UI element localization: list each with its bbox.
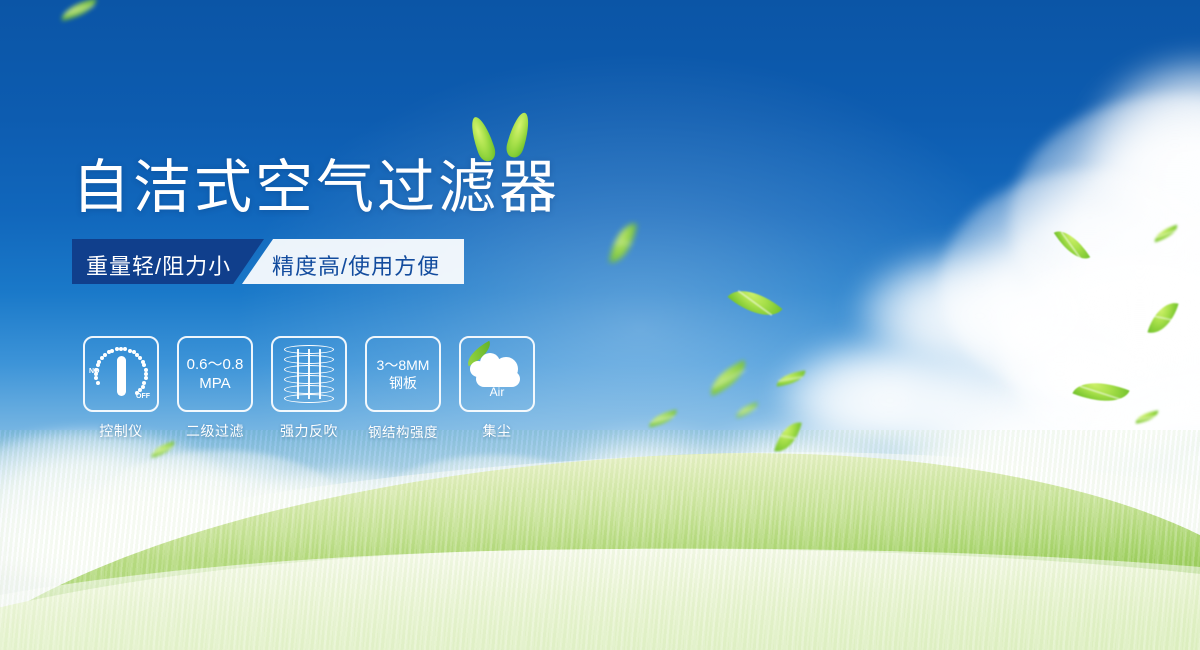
feature-label: 集尘 bbox=[483, 421, 512, 441]
gauge-tick bbox=[103, 353, 107, 357]
feature-item-filter[interactable]: 0.6～0.8 MPA 二级过滤 bbox=[176, 336, 254, 441]
feature-label: 二级过滤 bbox=[186, 421, 244, 441]
banner-stage: 自洁式空气过滤器 重量轻/阻力小 精度高/使用方便 NO OFF 控制仪 0.6… bbox=[0, 0, 1200, 650]
gauge-tick bbox=[96, 363, 100, 367]
coil-blowback-icon bbox=[284, 345, 334, 403]
pressure-line2: MPA bbox=[187, 374, 244, 393]
gauge-tick bbox=[128, 349, 132, 353]
gauge-tick bbox=[110, 349, 114, 353]
subtitle-bar: 重量轻/阻力小 精度高/使用方便 bbox=[72, 239, 464, 284]
feature-item-dust[interactable]: Air 集尘 bbox=[458, 336, 536, 441]
gauge-tick bbox=[142, 381, 146, 385]
feature-list: NO OFF 控制仪 0.6～0.8 MPA 二级过滤 bbox=[82, 336, 536, 441]
pressure-text-icon: 0.6～0.8 MPA bbox=[187, 355, 244, 393]
gauge-tick bbox=[123, 347, 127, 351]
feature-label: 钢结构强度 bbox=[368, 421, 438, 441]
page-title: 自洁式空气过滤器 bbox=[72, 140, 560, 224]
gauge-tick bbox=[142, 363, 146, 367]
gauge-tick bbox=[94, 372, 98, 376]
subtitle-left-text: 重量轻/阻力小 bbox=[86, 249, 231, 281]
steel-line2: 钢板 bbox=[377, 374, 430, 392]
air-cloud-icon: Air bbox=[468, 349, 526, 399]
feature-item-steel[interactable]: 3～8MM 钢板 钢结构强度 bbox=[364, 336, 442, 441]
gauge-tick bbox=[94, 376, 98, 380]
feature-box: Air bbox=[459, 336, 535, 412]
air-label: Air bbox=[468, 385, 526, 399]
gauge-icon: NO OFF bbox=[90, 343, 152, 405]
feature-box bbox=[271, 336, 347, 412]
feature-item-control[interactable]: NO OFF 控制仪 bbox=[82, 336, 160, 441]
gauge-tick bbox=[96, 381, 100, 385]
feature-item-blowback[interactable]: 强力反吹 bbox=[270, 336, 348, 441]
feature-box: 0.6～0.8 MPA bbox=[177, 336, 253, 412]
feature-box: 3～8MM 钢板 bbox=[365, 336, 441, 412]
grass-field bbox=[0, 430, 1200, 650]
pressure-line1: 0.6～0.8 bbox=[187, 355, 244, 374]
grass-bottom-fade bbox=[0, 560, 1200, 650]
steel-text-icon: 3～8MM 钢板 bbox=[377, 356, 430, 392]
feature-label: 控制仪 bbox=[99, 421, 143, 441]
gauge-needle bbox=[117, 356, 126, 396]
subtitle-right-text: 精度高/使用方便 bbox=[272, 249, 440, 281]
gauge-tick bbox=[144, 376, 148, 380]
gauge-tick bbox=[97, 360, 101, 364]
steel-line1: 3～8MM bbox=[377, 356, 430, 374]
feature-label: 强力反吹 bbox=[280, 421, 338, 441]
feature-box: NO OFF bbox=[83, 336, 159, 412]
